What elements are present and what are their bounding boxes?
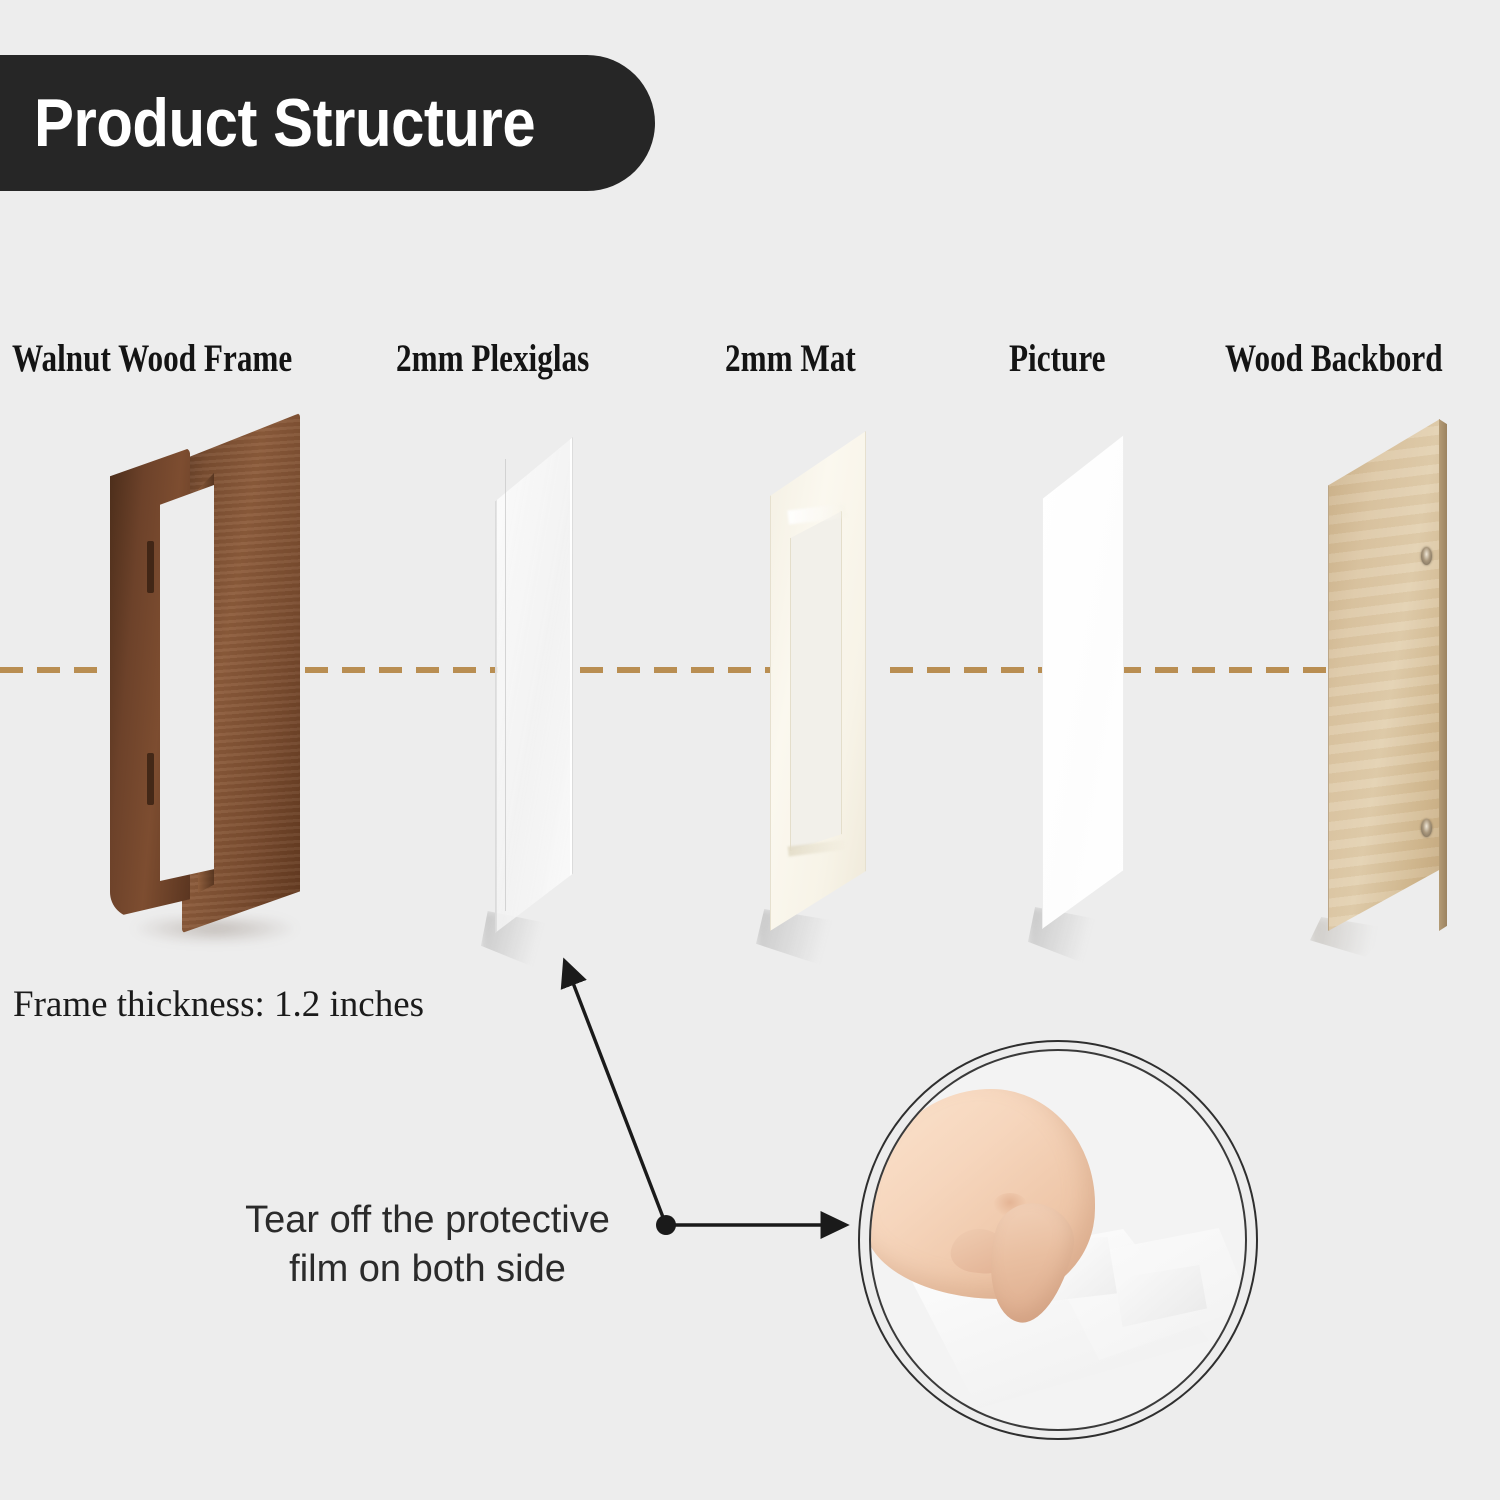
mat-window-opening (790, 511, 842, 851)
plexiglas-sheet-graphic (495, 437, 573, 933)
assembly-axis-dash-segment (268, 667, 498, 673)
backboard-screw (1421, 819, 1432, 837)
frame-hanger-notch (147, 541, 154, 593)
mat-board-graphic (770, 431, 866, 931)
plexiglas-drop-shadow (481, 911, 548, 967)
frame-hanger-notch (147, 753, 154, 805)
backboard-drop-shadow (1310, 917, 1390, 957)
wood-backboard-graphic (1328, 419, 1440, 931)
mat-drop-shadow (756, 909, 839, 965)
layer-label-row: Walnut Wood Frame 2mm Plexiglas 2mm Mat … (0, 336, 1500, 384)
assembly-axis-dash-segment (1118, 667, 1355, 673)
plexiglas-edge-line (505, 459, 506, 911)
picture-face (1042, 435, 1124, 929)
assembly-axis-dash-segment (580, 667, 798, 673)
frame-thickness-caption: Frame thickness: 1.2 inches (13, 983, 424, 1026)
page-title: Product Structure (34, 84, 535, 162)
picture-drop-shadow (1028, 907, 1099, 963)
plexiglas-face (495, 437, 573, 933)
callout-line-2: film on both side (200, 1245, 655, 1294)
protective-film-callout: Tear off the protective film on both sid… (200, 1196, 655, 1295)
protective-film-inset-photo (858, 1040, 1258, 1440)
inset-ring-outer (858, 1040, 1258, 1440)
frame-drop-shadow (130, 918, 300, 944)
picture-sheet-graphic (1042, 435, 1124, 929)
backboard-side-edge (1439, 419, 1447, 931)
backboard-screw (1421, 547, 1432, 565)
layer-label-walnut-wood-frame: Walnut Wood Frame (12, 336, 292, 381)
layer-label-wood-backboard: Wood Backbord (1225, 336, 1443, 381)
backboard-face (1328, 419, 1440, 931)
exploded-view-stage: ❯ (0, 395, 1500, 975)
layer-label-picture: Picture (1009, 336, 1105, 381)
layer-label-plexiglas: 2mm Plexiglas (396, 336, 589, 381)
frame-opening (160, 485, 214, 881)
page-title-banner: Product Structure (0, 55, 655, 191)
walnut-wood-frame-graphic (110, 413, 300, 933)
callout-line-1: Tear off the protective (200, 1196, 655, 1245)
layer-label-mat: 2mm Mat (725, 336, 856, 381)
